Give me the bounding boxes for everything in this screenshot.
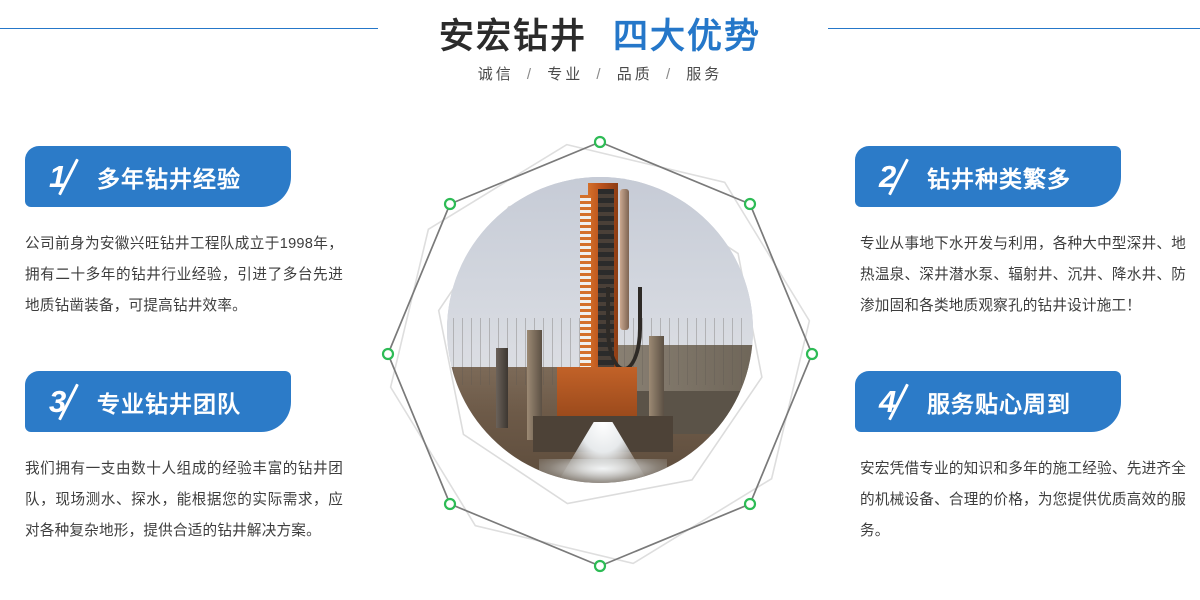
card-4-number: 4	[877, 380, 923, 424]
photo-support-leg-left	[496, 348, 508, 428]
card-4-header-pill: 4 服务贴心周到	[855, 371, 1121, 432]
card-3-title: 专业钻井团队	[97, 385, 241, 419]
photo-water-splash	[539, 459, 668, 483]
card-3-body: 我们拥有一支由数十人组成的经验丰富的钻井团队，现场测水、探水，能根据您的实际需求…	[25, 454, 343, 547]
subtitle-item-0: 诚信	[478, 66, 514, 83]
page-header: 安宏钻井四大优势 诚信 / 专业 / 品质 / 服务	[0, 0, 1200, 110]
vertex-node-icon	[445, 499, 455, 509]
photo-mast-ladder	[580, 195, 590, 385]
advantage-card-3: 3 专业钻井团队 我们拥有一支由数十人组成的经验丰富的钻井团队，现场测水、探水，…	[0, 371, 345, 547]
card-1-title: 多年钻井经验	[97, 160, 241, 194]
subtitle-item-2: 品质	[617, 66, 653, 83]
advantage-card-1: 1 多年钻井经验 公司前身为安徽兴旺钻井工程队成立于1998年，拥有二十多年的钻…	[0, 146, 345, 322]
card-3-number: 3	[47, 380, 93, 424]
subtitle: 诚信 / 专业 / 品质 / 服务	[0, 63, 1200, 84]
card-4-body: 安宏凭借专业的知识和多年的施工经验、先进齐全的机械设备、合理的价格，为您提供优质…	[860, 454, 1186, 547]
subtitle-item-1: 专业	[547, 66, 583, 83]
card-4-title: 服务贴心周到	[927, 385, 1071, 419]
subtitle-separator: /	[527, 66, 534, 83]
card-2-header-pill: 2 钻井种类繁多	[855, 146, 1121, 207]
subtitle-separator: /	[666, 66, 673, 83]
page-title: 安宏钻井四大优势	[0, 8, 1200, 59]
card-1-body: 公司前身为安徽兴旺钻井工程队成立于1998年，拥有二十多年的钻井行业经验，引进了…	[25, 229, 343, 322]
vertex-node-icon	[383, 349, 393, 359]
advantage-card-4: 4 服务贴心周到 安宏凭借专业的知识和多年的施工经验、先进齐全的机械设备、合理的…	[855, 371, 1200, 547]
card-2-body: 专业从事地下水开发与利用，各种大中型深井、地热温泉、深井潜水泵、辐射井、沉井、降…	[860, 229, 1186, 322]
drilling-rig-photo	[447, 177, 753, 483]
card-2-title: 钻井种类繁多	[927, 160, 1071, 194]
vertex-node-icon	[745, 499, 755, 509]
title-accent: 四大优势	[613, 17, 761, 56]
vertex-node-icon	[807, 349, 817, 359]
vertex-node-icon	[595, 137, 605, 147]
title-main: 安宏钻井	[439, 17, 587, 56]
subtitle-item-3: 服务	[686, 66, 722, 83]
card-2-number: 2	[877, 155, 923, 199]
card-1-number: 1	[47, 155, 93, 199]
promo-page: 安宏钻井四大优势 诚信 / 专业 / 品质 / 服务 1 多年钻井经验 公司前身…	[0, 0, 1200, 600]
vertex-node-icon	[595, 561, 605, 571]
advantage-card-2: 2 钻井种类繁多 专业从事地下水开发与利用，各种大中型深井、地热温泉、深井潜水泵…	[855, 146, 1200, 322]
card-3-header-pill: 3 专业钻井团队	[25, 371, 291, 432]
subtitle-separator: /	[596, 66, 603, 83]
card-1-header-pill: 1 多年钻井经验	[25, 146, 291, 207]
photo-hydraulic-hose	[606, 287, 642, 371]
center-graphic	[370, 110, 830, 580]
